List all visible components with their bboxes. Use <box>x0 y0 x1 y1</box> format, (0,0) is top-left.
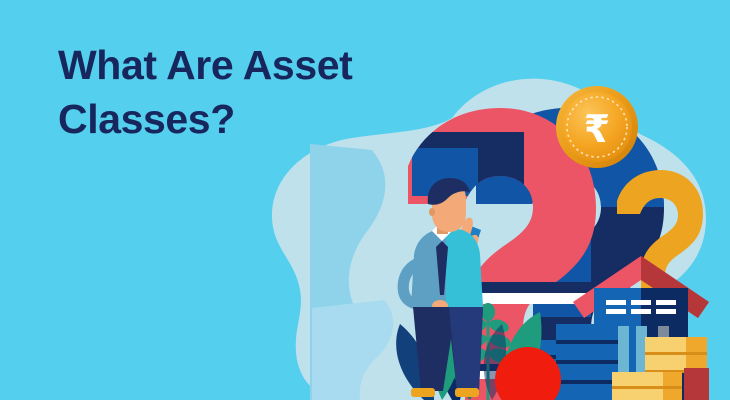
character-shoe <box>411 388 435 397</box>
rupee-symbol: ₹ <box>584 109 610 151</box>
banner-canvas: ₹ What Are Asset Classes? <box>0 0 730 400</box>
character-shoe <box>455 388 479 397</box>
red-book <box>684 368 709 400</box>
page-title: What Are Asset Classes? <box>58 38 448 146</box>
